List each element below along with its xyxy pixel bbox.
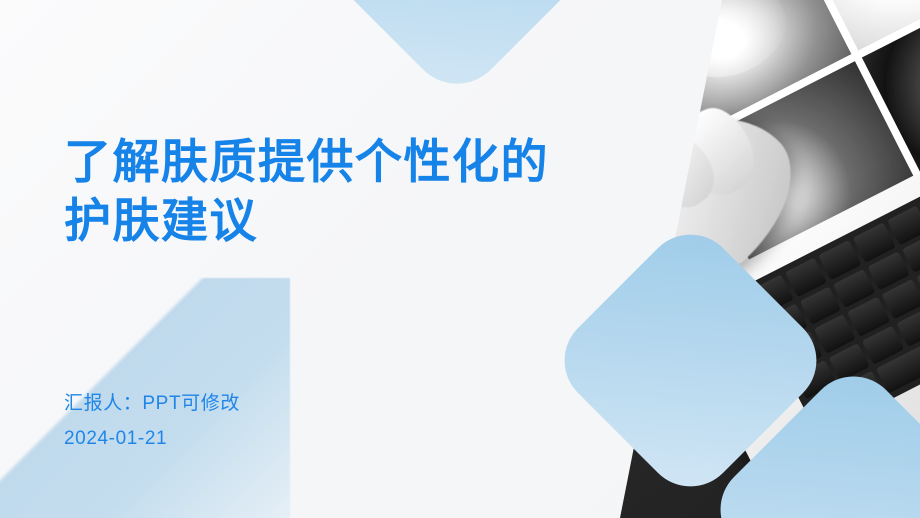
presenter-label: 汇报人：PPT可修改 [64, 386, 240, 421]
slide-title: 了解肤质提供个性化的 护肤建议 [64, 132, 584, 250]
slide-meta-block: 汇报人：PPT可修改 2024-01-21 [64, 386, 240, 456]
slide-date: 2024-01-21 [64, 421, 240, 456]
title-block: 了解肤质提供个性化的 护肤建议 [64, 132, 584, 250]
presentation-slide: 了解肤质提供个性化的 护肤建议 汇报人：PPT可修改 2024-01-21 [0, 0, 920, 518]
